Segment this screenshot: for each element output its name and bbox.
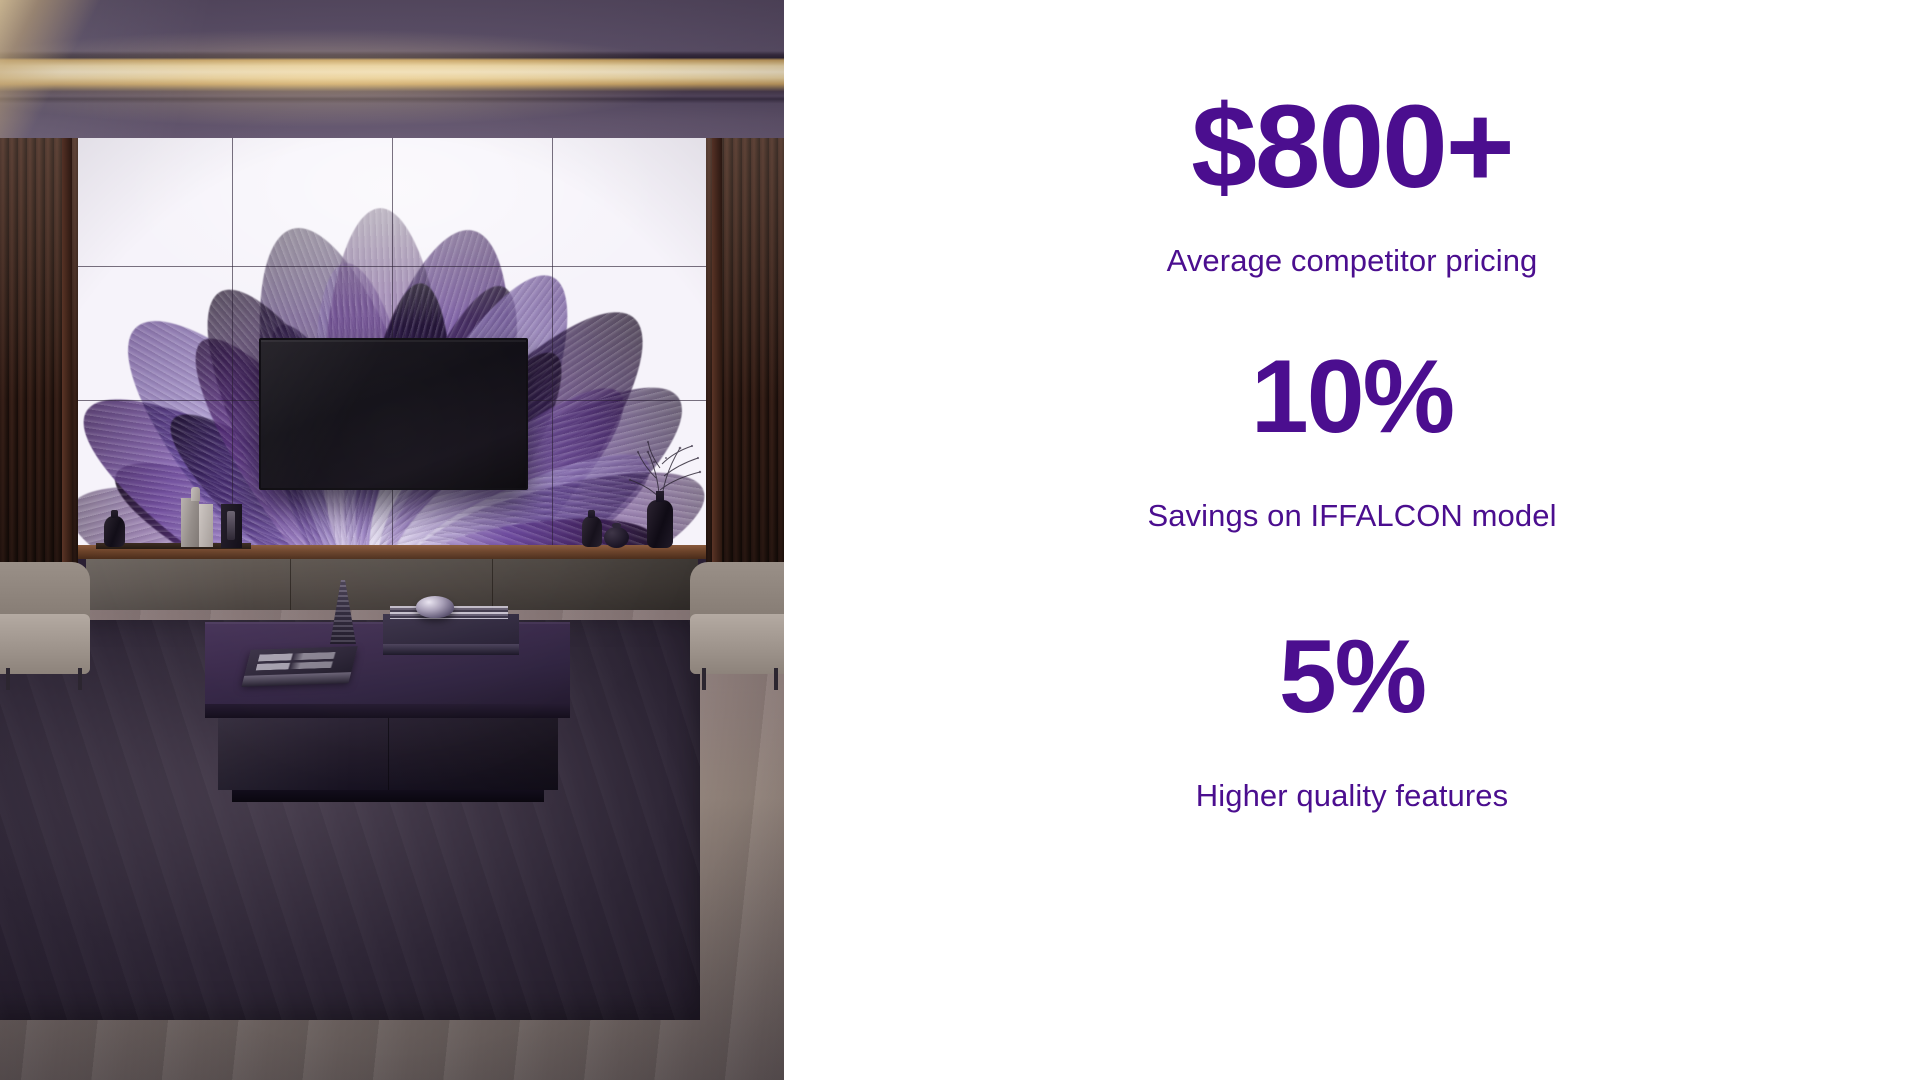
sofa-right xyxy=(690,562,784,674)
sofa-leg xyxy=(6,668,10,690)
sofa-leg xyxy=(774,668,778,690)
stat-value: 5% xyxy=(784,625,1920,729)
console-panel-seam xyxy=(290,559,291,611)
comparison-stats-slide: $800+ Average competitor pricing 10% Sav… xyxy=(0,0,1920,1080)
sofa-leg xyxy=(78,668,82,690)
stat-block-iffalcon-savings: 10% Savings on IFFALCON model xyxy=(784,345,1920,534)
dark-vase xyxy=(104,516,125,547)
stat-value: $800+ xyxy=(784,88,1920,206)
video-wall-seam xyxy=(552,138,553,548)
coffee-table-seam xyxy=(388,718,389,790)
wall-jamb-left xyxy=(62,138,72,618)
round-vase xyxy=(604,527,629,548)
sofa-leg xyxy=(702,668,706,690)
decor-bottle xyxy=(191,487,200,501)
magazine-tray xyxy=(383,614,519,654)
stat-value: 10% xyxy=(784,345,1920,449)
video-wall-seam xyxy=(232,138,233,548)
television xyxy=(259,338,528,490)
coffee-table-book xyxy=(242,646,358,684)
dark-frame-decor xyxy=(221,504,242,548)
stat-block-competitor-pricing: $800+ Average competitor pricing xyxy=(784,88,1920,279)
tall-dark-vase xyxy=(647,500,673,548)
coffee-table-edge xyxy=(205,704,570,718)
tall-vase-with-branches xyxy=(582,516,602,547)
light-box-decor xyxy=(199,504,213,547)
stat-block-quality-features: 5% Higher quality features xyxy=(784,625,1920,814)
glass-orb xyxy=(416,596,454,618)
stats-panel: $800+ Average competitor pricing 10% Sav… xyxy=(784,0,1920,1080)
stat-label: Higher quality features xyxy=(784,777,1920,814)
console-panel-seam xyxy=(492,559,493,611)
sofa-left xyxy=(0,562,90,674)
wall-jamb-right xyxy=(712,138,722,618)
media-console-body xyxy=(86,559,698,611)
stat-label: Savings on IFFALCON model xyxy=(784,497,1920,534)
stat-label: Average competitor pricing xyxy=(784,242,1920,279)
living-room-photo xyxy=(0,0,784,1080)
light-box-decor xyxy=(181,498,199,547)
coffee-table-plinth xyxy=(232,790,544,802)
book-cover-lettering xyxy=(256,652,345,671)
video-wall-seam xyxy=(72,266,712,267)
cove-led-corner xyxy=(0,0,140,150)
